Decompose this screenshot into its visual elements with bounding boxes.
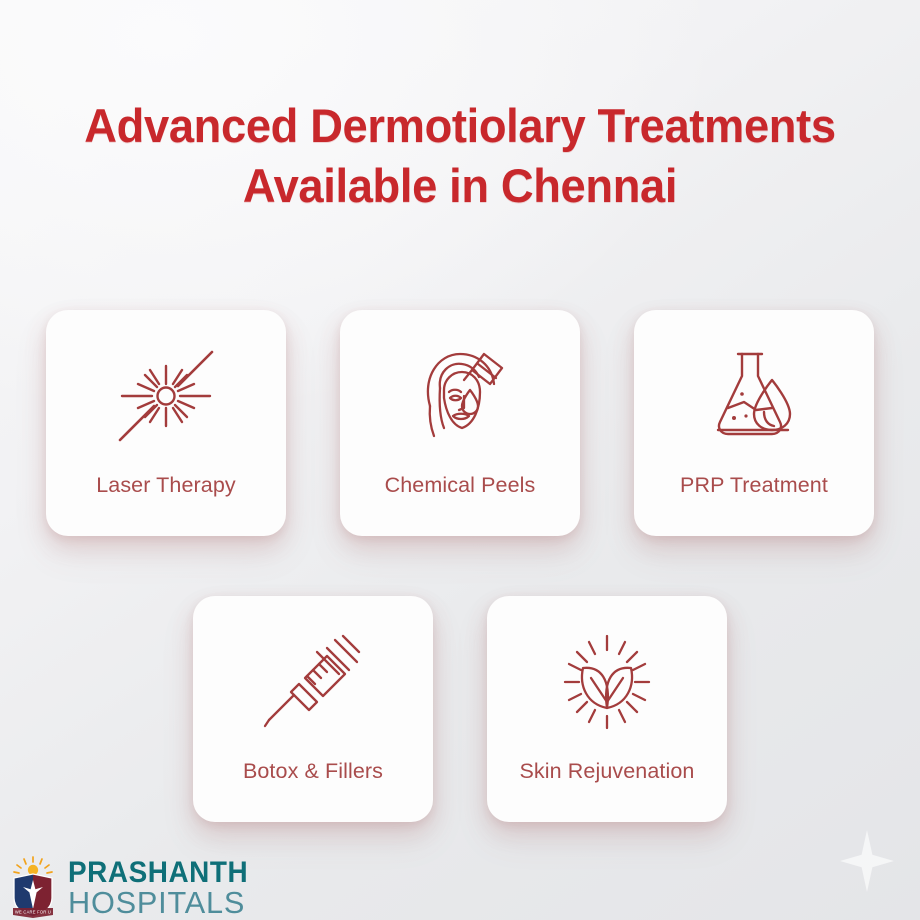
laser-burst-icon [110, 344, 222, 448]
page-title-line-2: Available in Chennai [16, 156, 904, 216]
treatment-card-skin-rejuvenation[interactable]: Skin Rejuvenation [487, 596, 727, 822]
treatment-card-label: Laser Therapy [46, 473, 286, 498]
treatment-card-label: Skin Rejuvenation [487, 759, 727, 784]
brand-logo: WE CARE FOR U PRASHANTH HOSPITALS [8, 856, 262, 918]
flask-blood-drop-icon [698, 344, 810, 448]
leaves-sunburst-icon [551, 630, 663, 734]
treatment-card-row-top: Laser Therapy [0, 310, 920, 536]
treatment-card-prp-treatment[interactable]: PRP Treatment [634, 310, 874, 536]
treatment-card-botox-fillers[interactable]: Botox & Fillers [193, 596, 433, 822]
treatment-card-laser-therapy[interactable]: Laser Therapy [46, 310, 286, 536]
treatment-card-label: Botox & Fillers [193, 759, 433, 784]
brand-wordmark: PRASHANTH HOSPITALS [68, 859, 262, 918]
brand-name-primary: PRASHANTH [68, 859, 248, 887]
treatment-card-chemical-peels[interactable]: Chemical Peels [340, 310, 580, 536]
poster-canvas: Advanced Dermotiolary Treatments Availab… [0, 0, 920, 920]
treatment-card-label: Chemical Peels [340, 473, 580, 498]
crest-motto: WE CARE FOR U [15, 910, 51, 915]
syringe-icon [257, 630, 369, 734]
sparkle-star-icon [840, 830, 894, 892]
brand-name-secondary: HOSPITALS [68, 889, 260, 918]
page-title-line-1: Advanced Dermotiolary Treatments [16, 96, 904, 156]
face-dropper-icon [404, 344, 516, 448]
page-title: Advanced Dermotiolary Treatments Availab… [16, 96, 904, 216]
treatment-card-label: PRP Treatment [634, 473, 874, 498]
shield-crest-icon: WE CARE FOR U [8, 856, 58, 918]
treatment-card-row-bottom: Botox & Fillers [0, 596, 920, 822]
